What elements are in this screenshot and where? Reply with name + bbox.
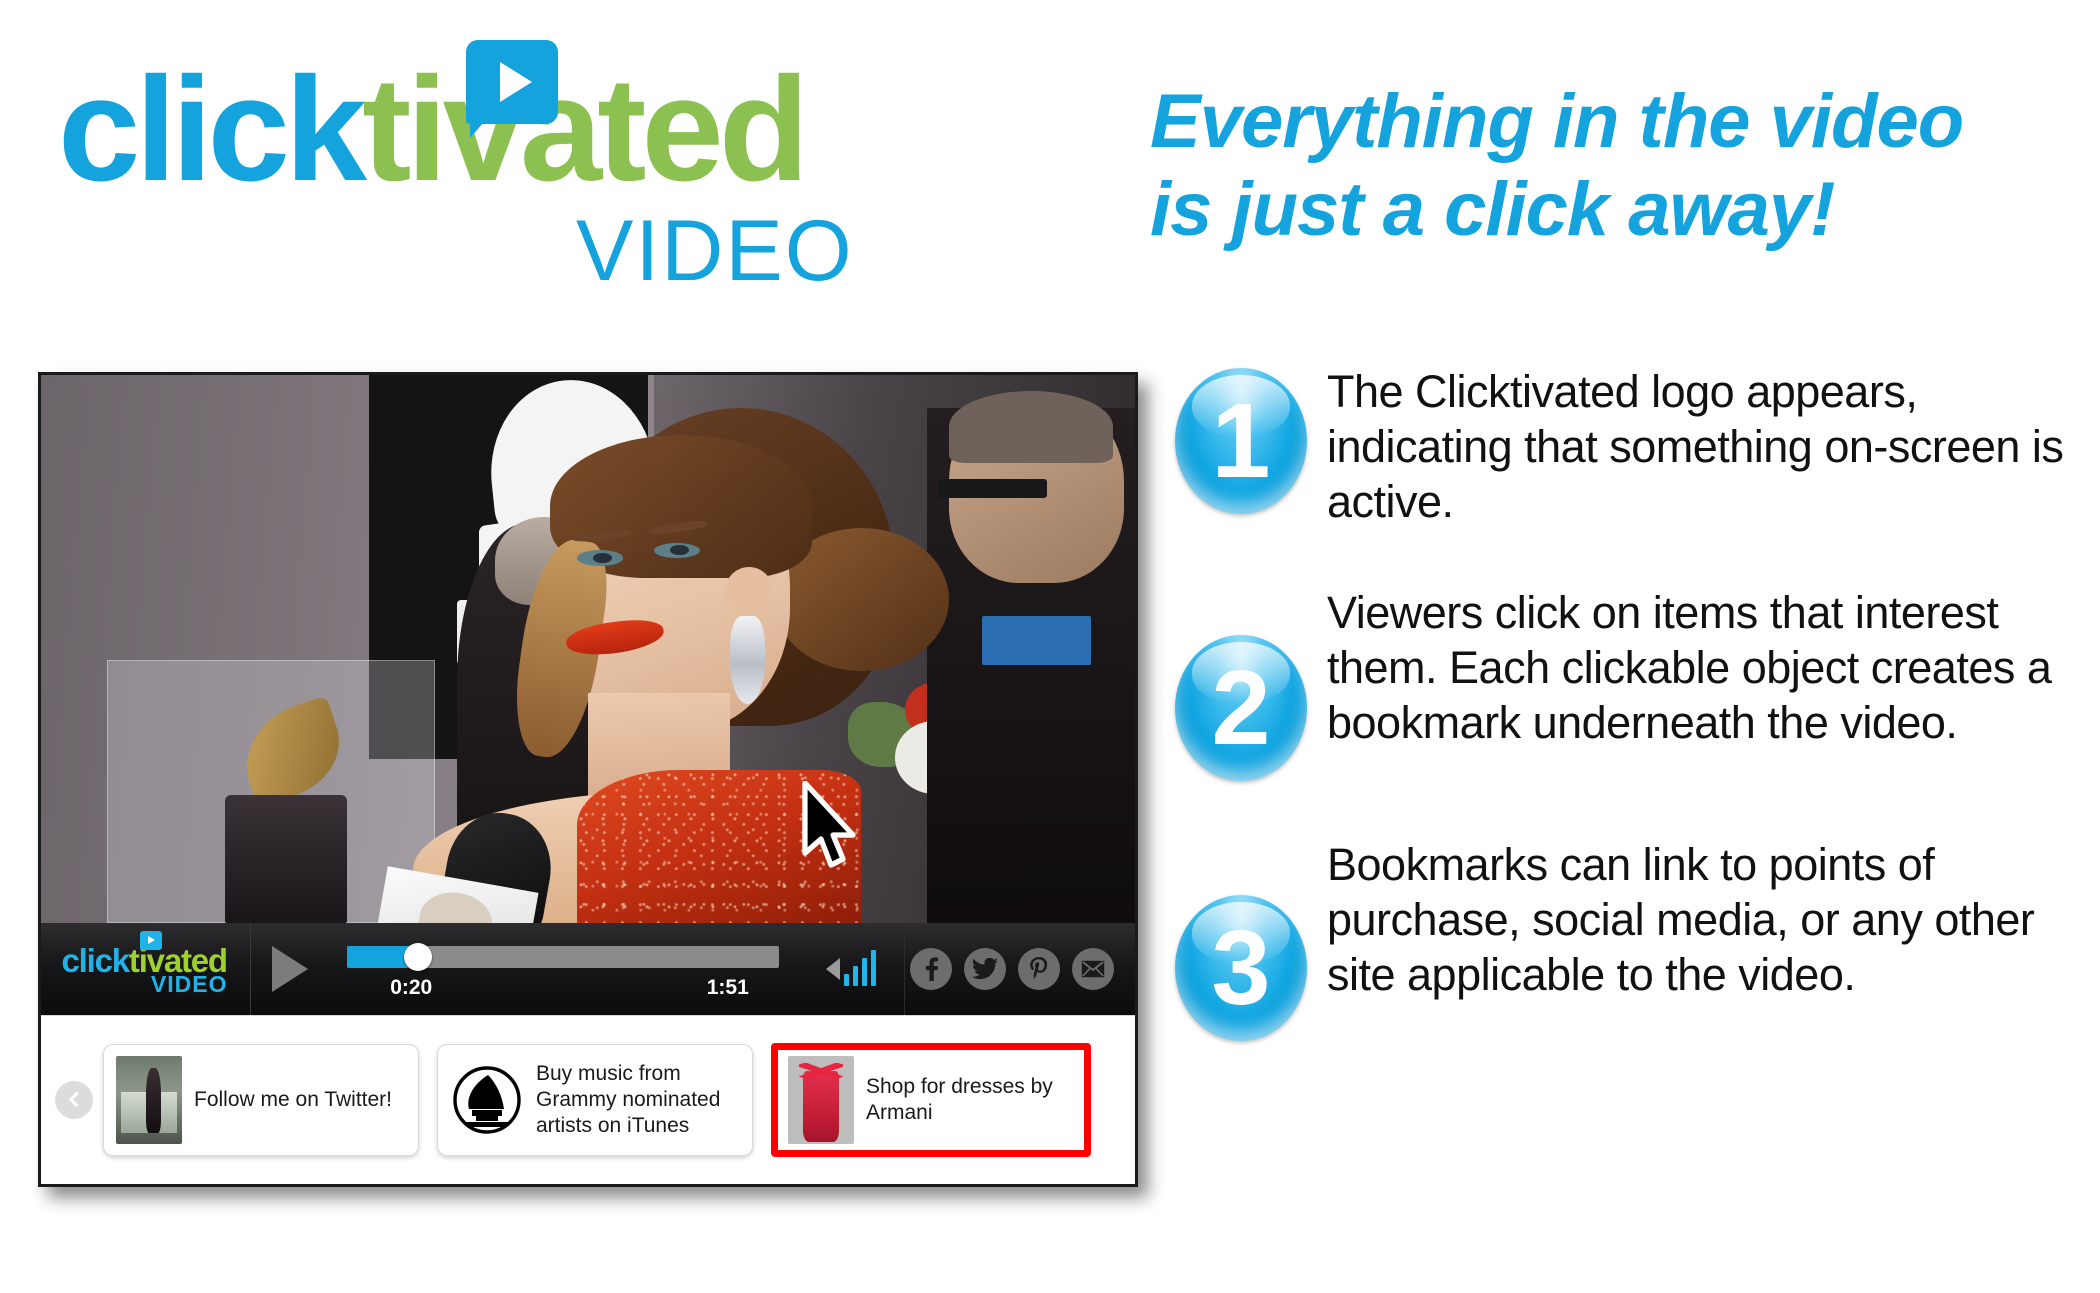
logo-video-text: VIDEO — [576, 208, 854, 294]
player-logo[interactable]: clicktivated VIDEO — [41, 923, 251, 1015]
bookmark-tray: Follow me on Twitter! Buy music from Gra… — [41, 1015, 1135, 1183]
player-logo-click-text: click — [62, 942, 129, 979]
bookmark-thumbnail-red-dress — [788, 1056, 854, 1144]
bookmark-item-3[interactable]: Shop for dresses by Armani — [771, 1043, 1091, 1157]
time-readout: 0:20 1:51 — [347, 976, 779, 998]
player-control-bar: clicktivated VIDEO 0:20 — [41, 923, 1135, 1015]
dress-strap-icon — [799, 1063, 844, 1082]
volume-control[interactable] — [797, 923, 905, 1015]
subject-earring[interactable] — [730, 616, 765, 704]
subject-eye-left — [577, 550, 623, 565]
logo-wordmark: clicktivated — [58, 56, 804, 204]
pinterest-icon[interactable] — [1018, 948, 1060, 990]
scene-background-man-right-glasses — [938, 479, 1047, 498]
bookmark-label: Shop for dresses by Armani — [866, 1074, 1074, 1126]
clicktivated-logo: clicktivated VIDEO — [58, 40, 888, 300]
video-player: clicktivated VIDEO 0:20 — [38, 372, 1138, 1187]
step-item-1: 1 The Clicktivated logo appears, indicat… — [1175, 360, 2095, 529]
logo-click-text: click — [58, 47, 362, 212]
step-number-badge: 2 — [1175, 635, 1307, 781]
step-number: 2 — [1212, 655, 1271, 761]
bookmark-item-2[interactable]: Buy music from Grammy nominated artists … — [437, 1044, 753, 1156]
page-root: clicktivated VIDEO Everything in the vid… — [0, 0, 2100, 1293]
play-icon — [272, 946, 308, 992]
video-player-wrapper: clicktivated VIDEO 0:20 — [38, 372, 1138, 1187]
scene-background-man-right-hair — [949, 391, 1113, 462]
step-number: 1 — [1212, 388, 1271, 494]
player-logo-video-text: VIDEO — [151, 971, 228, 998]
video-stage[interactable] — [41, 375, 1135, 923]
subject-ear — [725, 567, 773, 616]
step-description: The Clicktivated logo appears, indicatin… — [1327, 360, 2095, 529]
email-icon[interactable] — [1072, 948, 1114, 990]
bookmark-label: Follow me on Twitter! — [194, 1087, 392, 1113]
headline-line-2: is just a click away! — [1150, 166, 2080, 254]
logo-tivated-text: tivated — [362, 47, 804, 212]
volume-level-bars — [844, 952, 876, 986]
step-number-badge: 3 — [1175, 895, 1307, 1041]
twitter-icon[interactable] — [964, 948, 1006, 990]
steps-list: 1 The Clicktivated logo appears, indicat… — [1175, 360, 2095, 1093]
bookmark-item-1[interactable]: Follow me on Twitter! — [103, 1044, 419, 1156]
play-button[interactable] — [251, 923, 329, 1015]
step-number: 3 — [1212, 915, 1271, 1021]
step-item-3: 3 Bookmarks can link to points of purcha… — [1175, 833, 2095, 1041]
duration-label: 1:51 — [707, 976, 749, 1000]
grammy-gramophone-icon — [450, 1063, 524, 1137]
headline-line-1: Everything in the video — [1150, 78, 2080, 166]
bookmark-thumbnail-woman-in-kitchen — [116, 1056, 182, 1144]
step-number-badge: 1 — [1175, 368, 1307, 514]
scene-grammy-trophy — [216, 709, 358, 923]
step-description: Viewers click on items that interest the… — [1327, 581, 2095, 750]
step-item-2: 2 Viewers click on items that interest t… — [1175, 581, 2095, 781]
scene-trophy-base — [225, 795, 347, 923]
current-time-label: 0:20 — [390, 976, 432, 1000]
volume-on-icon — [826, 958, 840, 980]
seek-track[interactable] — [347, 946, 779, 968]
step-description: Bookmarks can link to points of purchase… — [1327, 833, 2095, 1002]
facebook-icon[interactable] — [910, 948, 952, 990]
play-triangle-icon — [466, 40, 558, 124]
headline: Everything in the video is just a click … — [1150, 78, 2080, 254]
player-play-triangle-icon — [140, 931, 162, 950]
chevron-left-icon[interactable] — [55, 1081, 93, 1119]
scene-trophy-horn — [231, 696, 352, 808]
seek-handle[interactable] — [404, 943, 432, 971]
bookmark-label: Buy music from Grammy nominated artists … — [536, 1061, 740, 1139]
scene-press-badge — [982, 616, 1091, 665]
seek-bar-area[interactable]: 0:20 1:51 — [329, 923, 797, 1015]
subject-eye-right — [654, 543, 700, 558]
social-share-group — [905, 923, 1135, 1015]
